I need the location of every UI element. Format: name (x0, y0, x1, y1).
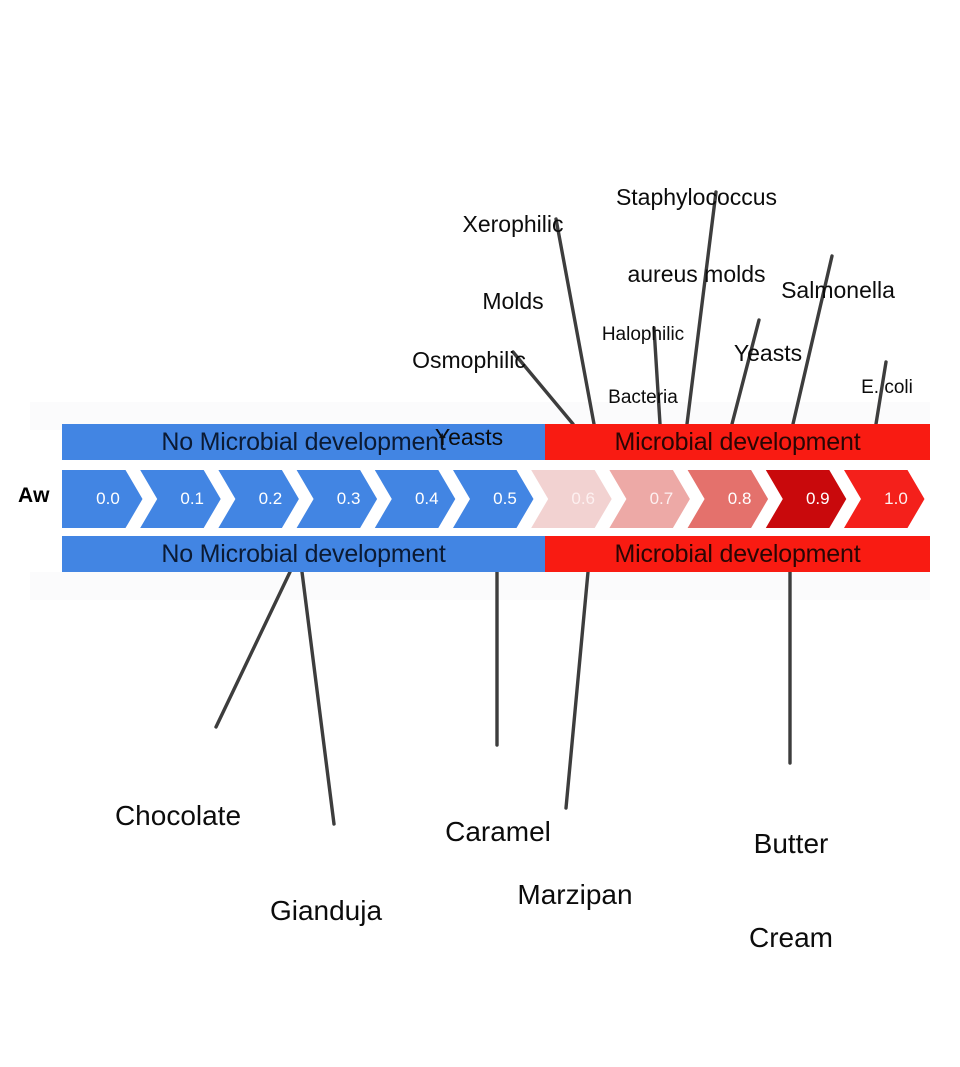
leader-line-gianduja (302, 572, 334, 824)
annotation-xerophilic-molds-line1: Xerophilic (438, 212, 588, 238)
annotation-gianduja-line1: Gianduja (238, 895, 414, 926)
chevron-value-0-6: 0.6 (543, 489, 623, 509)
annotation-xerophilic-molds: Xerophilic Molds (438, 160, 588, 366)
chevron-value-0-7: 0.7 (621, 489, 701, 509)
chevron-value-0-9: 0.9 (778, 489, 858, 509)
band-bottom-microbial-development: Microbial development (545, 536, 930, 572)
annotation-halophilic-bacteria-line2: Bacteria (578, 387, 708, 408)
annotation-marzipan-line1: Marzipan (484, 879, 666, 910)
annotation-e-coli-line1: E. coli (840, 377, 934, 398)
band-bottom-no-microbial-development: No Microbial development (62, 536, 545, 572)
chevron-value-0-3: 0.3 (309, 489, 389, 509)
annotation-butter-cream: Butter Cream (708, 765, 874, 1016)
annotation-osmophilic-yeasts-line2: Yeasts (386, 425, 552, 451)
annotation-staphylococcus-aureus-molds-line1: Staphylococcus (600, 185, 793, 211)
annotation-xerophilic-molds-line2: Molds (438, 289, 588, 315)
chevron-value-0-0: 0.0 (68, 489, 148, 509)
annotation-salmonella-line1: Salmonella (762, 278, 914, 304)
annotation-e-coli: E. coli (840, 334, 934, 440)
chevron-value-0-2: 0.2 (230, 489, 310, 509)
band-bottom-negative-label: No Microbial development (161, 542, 445, 567)
aw-scale-diagram: No Microbial development Microbial devel… (0, 0, 960, 1067)
band-bottom: No Microbial development Microbial devel… (62, 536, 930, 572)
annotation-gianduja: Gianduja (238, 832, 414, 989)
chevron-value-0-8: 0.8 (700, 489, 780, 509)
background-wash-bottom (30, 572, 930, 600)
annotation-butter-cream-line2: Cream (708, 922, 874, 953)
annotation-marzipan: Marzipan (484, 816, 666, 973)
annotation-chocolate-line1: Chocolate (78, 800, 278, 831)
annotation-butter-cream-line1: Butter (708, 828, 874, 859)
chevron-value-0-1: 0.1 (152, 489, 232, 509)
aw-axis-caption: Aw (18, 484, 50, 508)
band-bottom-positive-label: Microbial development (615, 542, 861, 567)
chevron-value-1-0: 1.0 (856, 489, 936, 509)
